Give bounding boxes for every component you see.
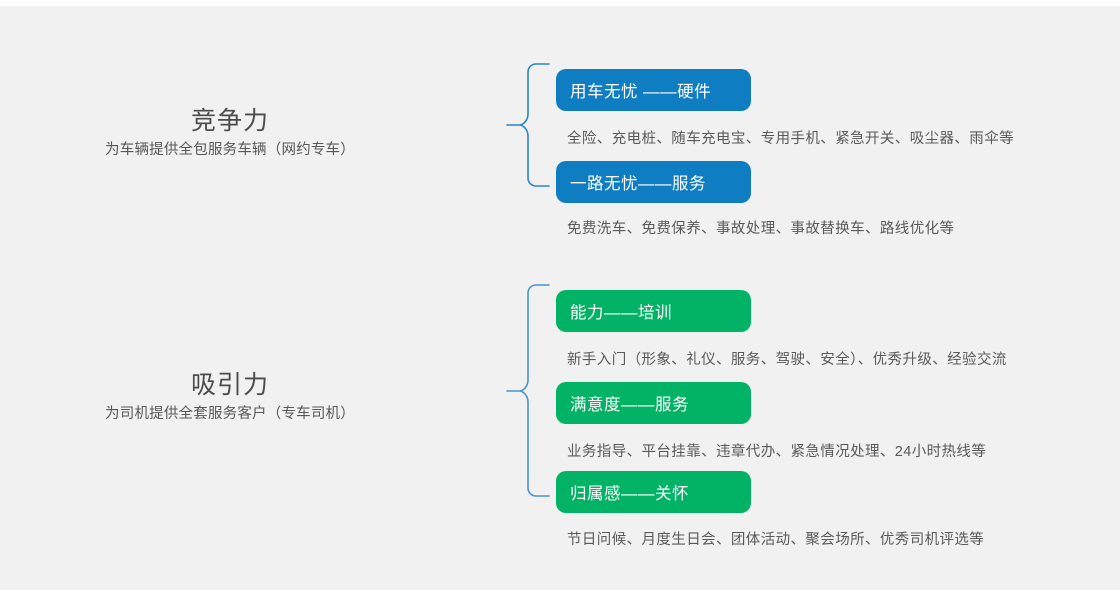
pill-label: 一路无忧——服务 <box>570 170 706 194</box>
detail-satisfaction: 业务指导、平台挂靠、违章代办、紧急情况处理、24小时热线等 <box>567 440 986 461</box>
detail-service-road: 免费洗车、免费保养、事故处理、事故替换车、路线优化等 <box>567 217 954 238</box>
pill-label: 满意度——服务 <box>570 391 689 415</box>
pill-label: 用车无忧 ——硬件 <box>570 78 711 102</box>
section-subtitle-attractiveness: 为司机提供全套服务客户（专车司机） <box>0 402 460 426</box>
curly-brace-icon <box>505 283 551 503</box>
pill-satisfaction[interactable]: 满意度——服务 <box>556 382 751 424</box>
diagram-canvas: 竞争力 为车辆提供全包服务车辆（网约专车） 吸引力 为司机提供全套服务客户（专车… <box>0 0 1120 590</box>
section-label-competitiveness: 竞争力 为车辆提供全包服务车辆（网约专车） <box>0 104 460 162</box>
pill-label: 归属感——关怀 <box>570 480 689 504</box>
detail-belonging: 节日问候、月度生日会、团体活动、聚会场所、优秀司机评选等 <box>567 528 984 549</box>
pill-hardware[interactable]: 用车无忧 ——硬件 <box>556 69 751 111</box>
section-label-attractiveness: 吸引力 为司机提供全套服务客户（专车司机） <box>0 368 460 426</box>
pill-training[interactable]: 能力——培训 <box>556 290 751 332</box>
top-white-strip <box>0 0 1120 6</box>
section-title-attractiveness: 吸引力 <box>0 368 460 402</box>
curly-brace-icon <box>505 62 551 193</box>
detail-training: 新手入门（形象、礼仪、服务、驾驶、安全）、优秀升级、经验交流 <box>567 348 1007 369</box>
section-subtitle-competitiveness: 为车辆提供全包服务车辆（网约专车） <box>0 138 460 162</box>
section-title-competitiveness: 竞争力 <box>0 104 460 138</box>
pill-label: 能力——培训 <box>570 299 672 323</box>
pill-service-road[interactable]: 一路无忧——服务 <box>556 161 751 203</box>
pill-belonging[interactable]: 归属感——关怀 <box>556 471 751 513</box>
detail-hardware: 全险、充电桩、随车充电宝、专用手机、紧急开关、吸尘器、雨伞等 <box>567 127 1014 148</box>
